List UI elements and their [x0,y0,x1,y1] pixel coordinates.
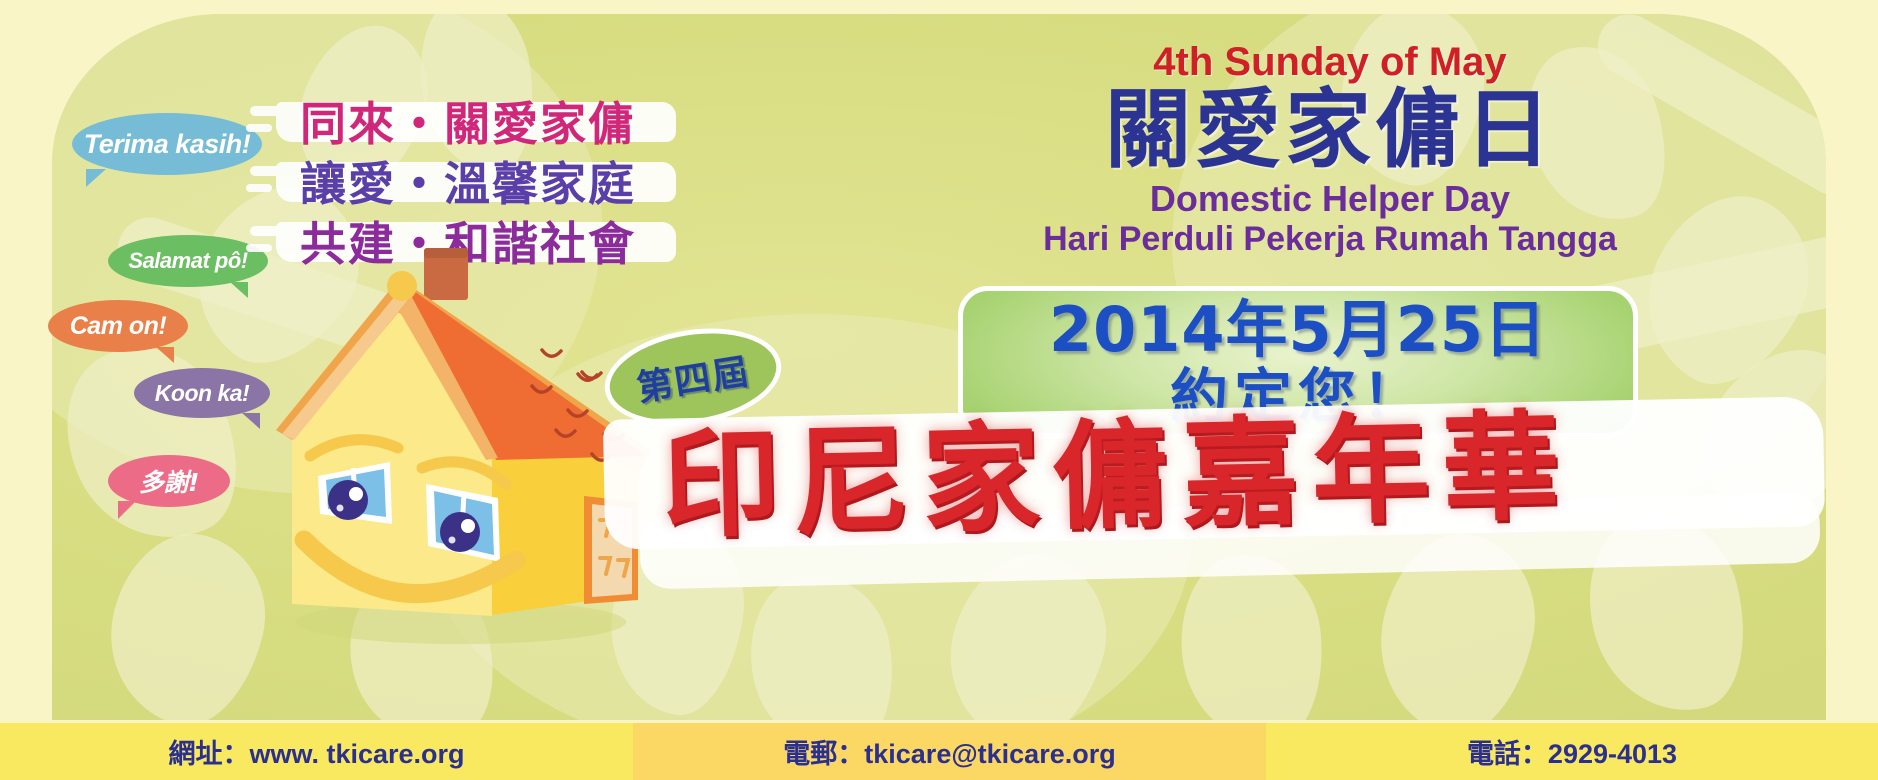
bubble-do-tse: 多謝! [108,455,230,507]
bubble-label: Cam on! [70,312,167,341]
carnival-headline-block: 印尼家傭嘉年華 [600,402,1840,582]
slogan-line-1: 同來・關愛家傭 [300,101,636,147]
bubble-terima-kasih: Terima kasih! [72,113,262,175]
slogan-line: 讓愛・溫馨家庭 [300,156,720,212]
bubble-label: Koon ka! [155,380,249,407]
footer-email[interactable]: 電郵：tkicare@tkicare.org [633,723,1266,780]
english-title: Domestic Helper Day [930,178,1730,220]
slogan-line-2: 讓愛・溫馨家庭 [300,161,636,207]
sunday-text: 4th Sunday of May [930,40,1730,85]
indonesian-title: Hari Perduli Pekerja Rumah Tangga [930,220,1730,259]
bubble-label: Terima kasih! [84,129,251,160]
date-line-1: 2014年5月25日 [1049,299,1547,361]
bubble-tail [156,347,174,363]
slogan-line: 同來・關愛家傭 [300,96,720,152]
poster-banner: Terima kasih! Salamat pô! Cam on! Koon k… [0,0,1878,780]
footer-bar: 網址：www. tkicare.org 電郵：tkicare@tkicare.o… [0,723,1878,780]
bubble-tail [118,501,136,519]
footer-phone[interactable]: 電話：2929-4013 [1266,723,1878,780]
bubble-salamat-po: Salamat pô! [108,235,268,287]
bubble-label: Salamat pô! [128,248,247,274]
chinese-title: 關愛家傭日 [930,85,1730,176]
bubble-label: 多謝! [139,463,199,499]
bubble-cam-on: Cam on! [48,300,188,352]
bubble-tail [86,169,106,187]
footer-website[interactable]: 網址：www. tkicare.org [0,723,633,780]
header-block: 4th Sunday of May 關愛家傭日 Domestic Helper … [930,40,1730,259]
carnival-headline: 印尼家傭嘉年華 [661,402,1574,551]
